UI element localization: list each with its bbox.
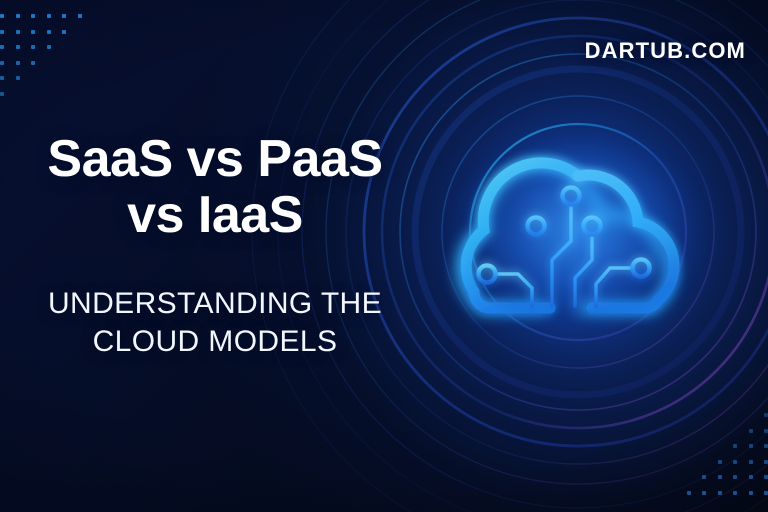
decor-dot	[764, 429, 768, 433]
decor-dot	[47, 14, 51, 18]
decor-dot	[749, 429, 753, 433]
decor-dot	[31, 14, 35, 18]
decor-dot	[31, 30, 35, 34]
page-title: SaaS vs PaaS vs IaaS	[0, 132, 430, 243]
decor-dot	[16, 14, 20, 18]
decor-dot	[702, 491, 706, 495]
decor-dot	[718, 491, 722, 495]
decor-dot	[718, 460, 722, 464]
decor-dot	[31, 61, 35, 65]
cloud-glow	[454, 132, 702, 332]
decor-dot	[764, 460, 768, 464]
decor-dot	[764, 444, 768, 448]
decor-dot	[0, 76, 4, 80]
decor-dot	[0, 14, 4, 18]
brand-wordmark: DARTUB.COM	[585, 38, 746, 64]
subtitle-line-1: UNDERSTANDING THE	[0, 285, 430, 323]
decor-dot	[687, 491, 691, 495]
decor-dot	[702, 475, 706, 479]
decor-dot	[47, 45, 51, 49]
decor-dot	[0, 61, 4, 65]
decor-dot	[0, 30, 4, 34]
decor-dot	[16, 76, 20, 80]
title-line-2: vs IaaS	[0, 188, 430, 244]
page-subtitle: UNDERSTANDING THE CLOUD MODELS	[0, 285, 430, 361]
decor-dot	[718, 475, 722, 479]
decor-dot	[749, 491, 753, 495]
decor-dot	[62, 14, 66, 18]
decor-dot	[733, 444, 737, 448]
decor-dot	[733, 491, 737, 495]
decor-dot	[62, 30, 66, 34]
decor-dot	[47, 30, 51, 34]
decor-dot	[733, 475, 737, 479]
title-line-1: SaaS vs PaaS	[0, 132, 430, 188]
decor-dot	[0, 92, 4, 96]
decor-dot	[749, 475, 753, 479]
decor-dot	[31, 45, 35, 49]
subtitle-line-2: CLOUD MODELS	[0, 323, 430, 361]
decor-dot	[16, 45, 20, 49]
decor-dot	[733, 460, 737, 464]
decor-dot	[764, 413, 768, 417]
decor-dot	[749, 444, 753, 448]
decor-dot	[78, 14, 82, 18]
decor-dot	[764, 475, 768, 479]
promo-banner: DARTUB.COM SaaS vs PaaS vs IaaS UNDERSTA…	[0, 0, 768, 512]
decor-dot	[764, 491, 768, 495]
dot-grid-top-left	[0, 14, 93, 107]
decor-dot	[16, 30, 20, 34]
cloud-circuit-graphic	[432, 118, 724, 368]
decor-dot	[749, 460, 753, 464]
decor-dot	[0, 45, 4, 49]
dot-grid-bottom-right	[675, 413, 768, 506]
decor-dot	[16, 61, 20, 65]
